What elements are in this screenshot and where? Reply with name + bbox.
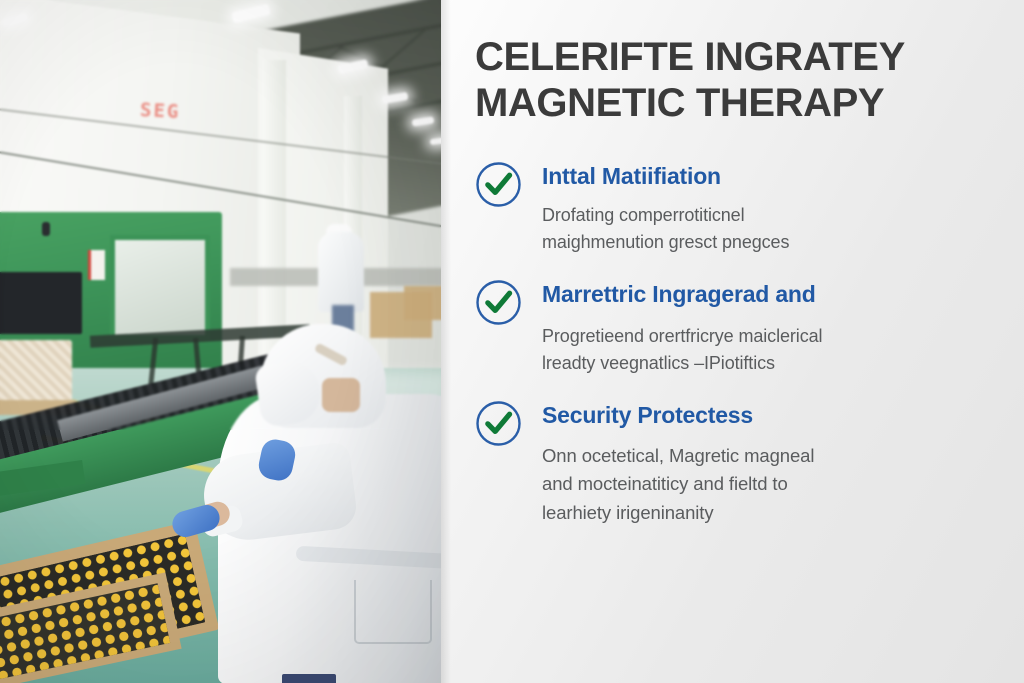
- coat-pocket: [354, 580, 432, 644]
- worker-neck: [322, 378, 360, 412]
- check-circle-icon: [475, 161, 522, 208]
- ceiling-lamp: [430, 137, 441, 145]
- pallet-of-parts: [0, 340, 72, 402]
- machine-viewing-window: [110, 235, 210, 340]
- feature-item-2: Marrettric Ingragerad and Progretieend o…: [475, 277, 998, 377]
- feature-desc-line: Progretieend orertfricrye maiclerical: [542, 323, 998, 350]
- machine-label-plate: [88, 250, 105, 280]
- feature-desc-line: maighmenution gresct pnegces: [542, 229, 998, 256]
- check-circle-icon: [475, 279, 522, 326]
- check-circle-icon: [475, 400, 522, 447]
- feature-text-1: Inttal Matiifiation Drofating comperroti…: [542, 159, 998, 257]
- page-title: CELERIFTE INGRATEY MAGNETIC THERAPY: [475, 34, 985, 127]
- feature-text-2: Marrettric Ingragerad and Progretieend o…: [542, 277, 998, 377]
- feature-text-3: Security Protectess Onn ocetetical, Magr…: [542, 398, 998, 527]
- wall-sign-seg: SEG: [139, 99, 180, 123]
- feature-desc-line: and mocteinatiticy and fieltd to: [542, 470, 998, 498]
- machine-dark-module: [0, 272, 82, 334]
- worker-trousers: [282, 674, 336, 683]
- wall-pillar-1: [262, 60, 286, 360]
- feature-list: Inttal Matiifiation Drofating comperroti…: [475, 159, 998, 527]
- factory-photo: SEG: [0, 0, 441, 683]
- feature-desc-line: learhiety irigeninanity: [542, 499, 998, 527]
- feature-description-2: Progretieend orertfricrye maiclerical lr…: [542, 323, 998, 377]
- feature-title-1: Inttal Matiifiation: [542, 162, 998, 191]
- background-worker-coat: [318, 232, 364, 312]
- feature-desc-line: Onn ocetetical, Magretic magneal: [542, 442, 998, 470]
- feature-description-3: Onn ocetetical, Magretic magneal and moc…: [542, 442, 998, 526]
- cardboard-box: [404, 286, 441, 320]
- poster-canvas: SEG: [0, 0, 1024, 683]
- feature-title-2: Marrettric Ingragerad and: [542, 280, 998, 309]
- content-panel: CELERIFTE INGRATEY MAGNETIC THERAPY Intt…: [441, 0, 1024, 683]
- feature-description-1: Drofating comperrotiticnel maighmenution…: [542, 202, 998, 256]
- feature-desc-line: lreadty veegnatlics –IPiotiftics: [542, 350, 998, 377]
- machine-knob: [42, 222, 50, 236]
- feature-item-3: Security Protectess Onn ocetetical, Magr…: [475, 398, 998, 527]
- foreground-worker: [196, 322, 441, 683]
- feature-desc-line: Drofating comperrotiticnel: [542, 202, 998, 229]
- feature-item-1: Inttal Matiifiation Drofating comperroti…: [475, 159, 998, 257]
- feature-title-3: Security Protectess: [542, 401, 998, 430]
